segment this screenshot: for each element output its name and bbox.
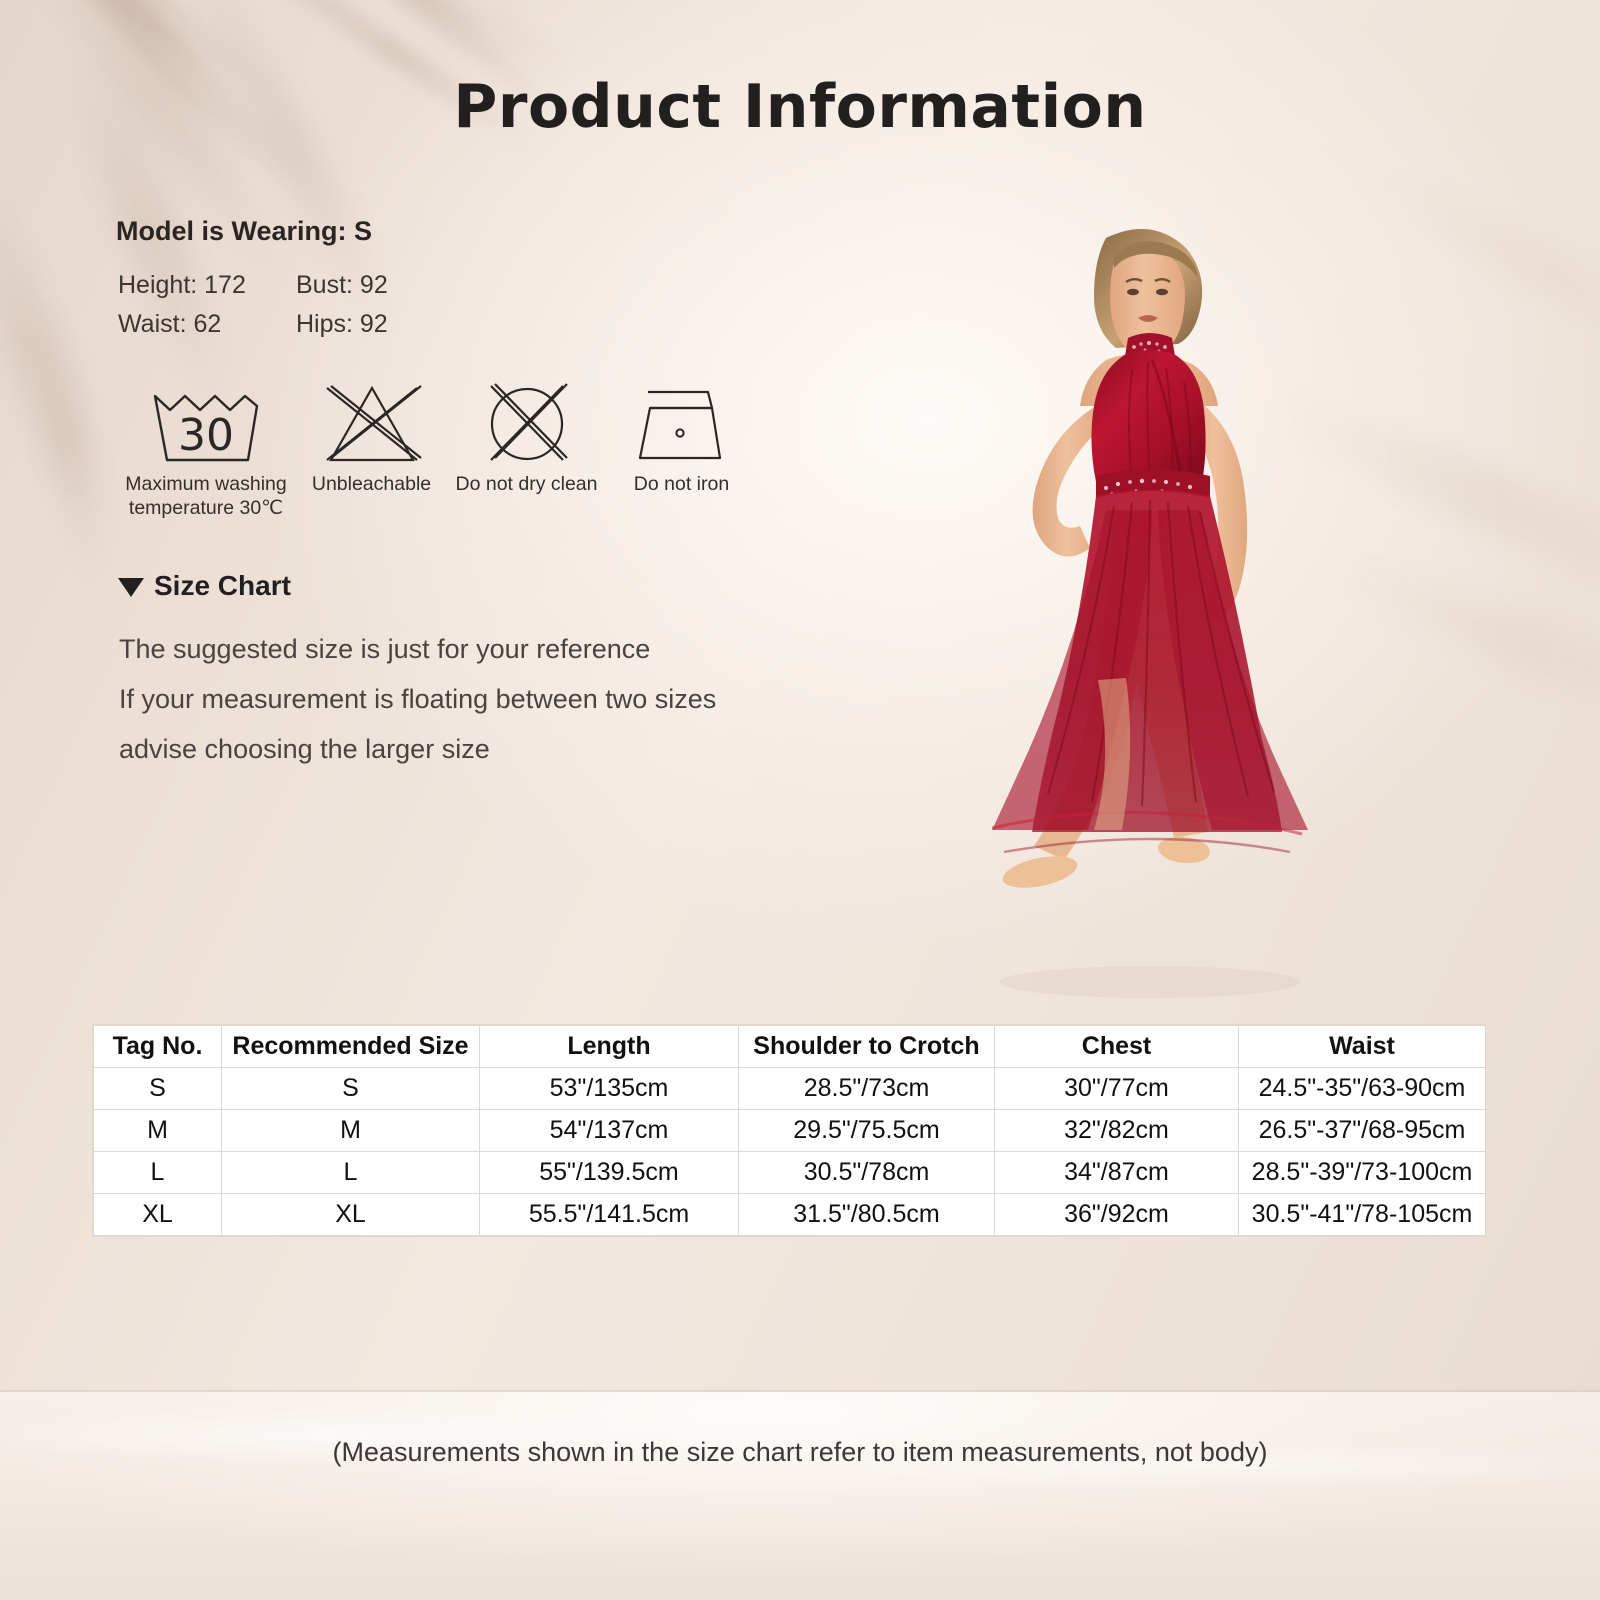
care-caption-wash: Maximum washing temperature 30℃ <box>118 472 294 520</box>
care-caption-bleach: Unbleachable <box>294 472 449 496</box>
size-chart-table: Tag No. Recommended Size Length Shoulder… <box>93 1025 1486 1236</box>
cell-length: 55"/139.5cm <box>480 1152 739 1194</box>
cell-shoulder-to-crotch: 30.5"/78cm <box>739 1152 995 1194</box>
table-row: L L 55"/139.5cm 30.5"/78cm 34"/87cm 28.5… <box>94 1152 1486 1194</box>
table-row: S S 53"/135cm 28.5"/73cm 30"/77cm 24.5"-… <box>94 1068 1486 1110</box>
cell-shoulder-to-crotch: 29.5"/75.5cm <box>739 1110 995 1152</box>
cell-tag-no: M <box>94 1110 222 1152</box>
care-caption-dryclean: Do not dry clean <box>449 472 604 496</box>
model-measurements: Height: 172 Bust: 92 Waist: 62 Hips: 92 <box>118 266 456 344</box>
cell-shoulder-to-crotch: 28.5"/73cm <box>739 1068 995 1110</box>
col-header-tag-no: Tag No. <box>94 1026 222 1068</box>
care-symbols: 30 Maximum washing temperature 30℃ Unble… <box>118 378 759 520</box>
table-header-row: Tag No. Recommended Size Length Shoulder… <box>94 1026 1486 1068</box>
col-header-length: Length <box>480 1026 739 1068</box>
size-chart-note-3: advise choosing the larger size <box>119 724 716 774</box>
model-wearing-heading: Model is Wearing: S <box>116 216 372 247</box>
care-symbol-iron: Do not iron <box>604 378 759 520</box>
model-bust: Bust: 92 <box>296 266 456 305</box>
table-row: XL XL 55.5"/141.5cm 31.5"/80.5cm 36"/92c… <box>94 1194 1486 1236</box>
cell-tag-no: XL <box>94 1194 222 1236</box>
size-chart-note-1: The suggested size is just for your refe… <box>119 624 716 674</box>
cell-waist: 26.5"-37"/68-95cm <box>1239 1110 1486 1152</box>
col-header-recommended-size: Recommended Size <box>222 1026 480 1068</box>
col-header-shoulder-to-crotch: Shoulder to Crotch <box>739 1026 995 1068</box>
care-symbol-wash: 30 Maximum washing temperature 30℃ <box>118 378 294 520</box>
product-information-page: Product Information Model is Wearing: S … <box>0 0 1600 1600</box>
cell-recommended-size: L <box>222 1152 480 1194</box>
cell-recommended-size: XL <box>222 1194 480 1236</box>
cell-chest: 32"/82cm <box>995 1110 1239 1152</box>
no-dry-clean-circle-icon <box>449 378 604 466</box>
cell-length: 55.5"/141.5cm <box>480 1194 739 1236</box>
col-header-waist: Waist <box>1239 1026 1486 1068</box>
cell-tag-no: S <box>94 1068 222 1110</box>
cell-waist: 28.5"-39"/73-100cm <box>1239 1152 1486 1194</box>
do-not-iron-icon <box>604 378 759 466</box>
cell-chest: 30"/77cm <box>995 1068 1239 1110</box>
cell-shoulder-to-crotch: 31.5"/80.5cm <box>739 1194 995 1236</box>
cell-chest: 36"/92cm <box>995 1194 1239 1236</box>
col-header-chest: Chest <box>995 1026 1239 1068</box>
cell-chest: 34"/87cm <box>995 1152 1239 1194</box>
cell-tag-no: L <box>94 1152 222 1194</box>
care-caption-iron: Do not iron <box>604 472 759 496</box>
size-chart-table-container: Tag No. Recommended Size Length Shoulder… <box>92 1024 1486 1237</box>
chevron-down-icon <box>118 578 144 597</box>
footer-note: (Measurements shown in the size chart re… <box>0 1437 1600 1468</box>
cell-waist: 30.5"-41"/78-105cm <box>1239 1194 1486 1236</box>
wash-tub-30-icon: 30 <box>118 378 294 466</box>
cell-length: 53"/135cm <box>480 1068 739 1110</box>
table-row: M M 54"/137cm 29.5"/75.5cm 32"/82cm 26.5… <box>94 1110 1486 1152</box>
page-title: Product Information <box>0 72 1600 142</box>
care-symbol-dryclean: Do not dry clean <box>449 378 604 520</box>
cell-recommended-size: M <box>222 1110 480 1152</box>
model-waist: Waist: 62 <box>118 305 296 344</box>
size-chart-heading: Size Chart <box>118 570 291 602</box>
model-height: Height: 172 <box>118 266 296 305</box>
cell-length: 54"/137cm <box>480 1110 739 1152</box>
no-bleach-triangle-icon <box>294 378 449 466</box>
svg-text:30: 30 <box>178 410 234 461</box>
model-hips: Hips: 92 <box>296 305 456 344</box>
cell-recommended-size: S <box>222 1068 480 1110</box>
care-symbol-bleach: Unbleachable <box>294 378 449 520</box>
model-photo <box>900 210 1360 1000</box>
size-chart-heading-label: Size Chart <box>154 570 291 602</box>
cell-waist: 24.5"-35"/63-90cm <box>1239 1068 1486 1110</box>
size-chart-note-2: If your measurement is floating between … <box>119 674 716 724</box>
size-chart-notes: The suggested size is just for your refe… <box>119 624 716 774</box>
